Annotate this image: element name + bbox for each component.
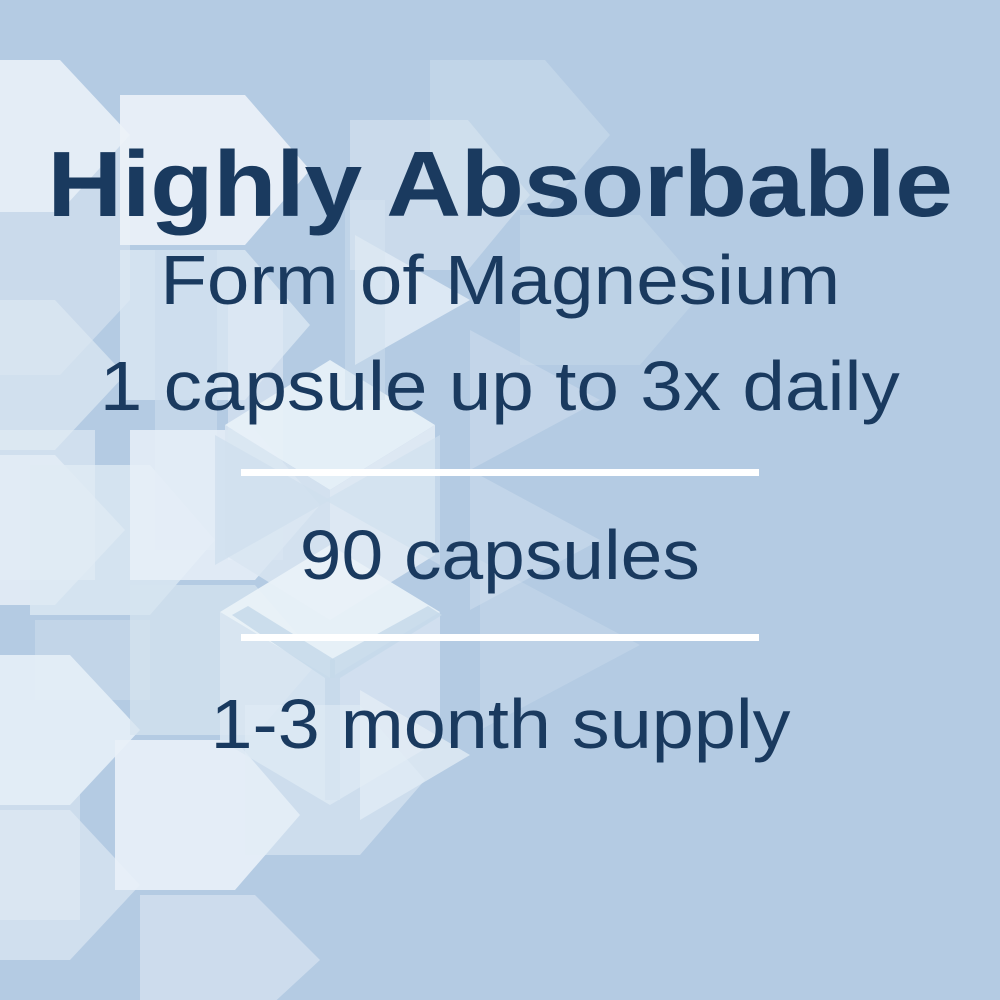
page-title: Highly Absorbable	[0, 138, 1000, 231]
capsule-count-text: 90 capsules	[0, 520, 1000, 590]
dosage-text: 1 capsule up to 3x daily	[0, 351, 1000, 421]
product-feature-card: Highly Absorbable Form of Magnesium 1 ca…	[0, 0, 1000, 1000]
feature-content: Highly Absorbable Form of Magnesium 1 ca…	[0, 0, 1000, 1000]
supply-duration-text: 1-3 month supply	[0, 689, 1000, 759]
divider-bottom	[241, 634, 759, 641]
divider-top	[241, 469, 759, 476]
subtitle: Form of Magnesium	[0, 245, 1000, 315]
